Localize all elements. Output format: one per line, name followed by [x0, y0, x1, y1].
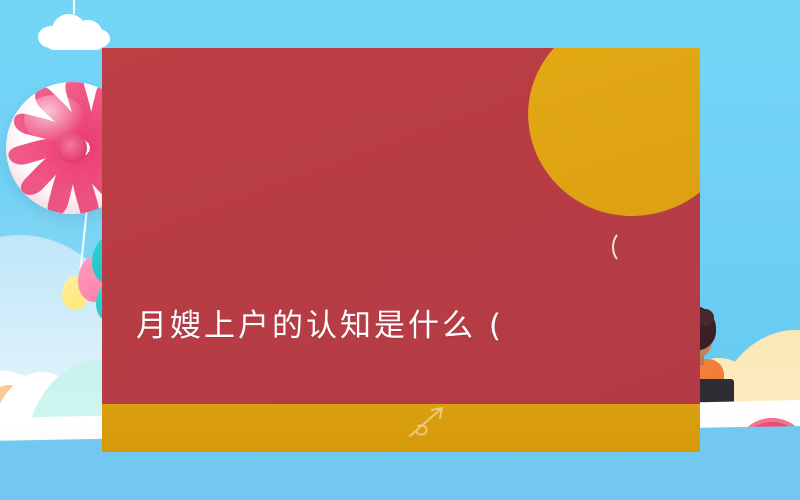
- headline-line-1: 月嫂上户的认知是什么 (: [128, 302, 688, 350]
- page-title: 月嫂上户的认知是什么 ( 月嫂上户的工作流程): [128, 206, 688, 452]
- headline-panel: 月嫂上户的认知是什么 ( 月嫂上户的工作流程): [102, 48, 700, 452]
- headline-line-2: 月嫂上户的工作流程): [128, 446, 688, 452]
- banner-image: 月嫂上户的认知是什么 ( 月嫂上户的工作流程): [0, 0, 800, 500]
- hanging-cloud-icon: [38, 12, 110, 46]
- gold-blob-decoration: [515, 48, 700, 229]
